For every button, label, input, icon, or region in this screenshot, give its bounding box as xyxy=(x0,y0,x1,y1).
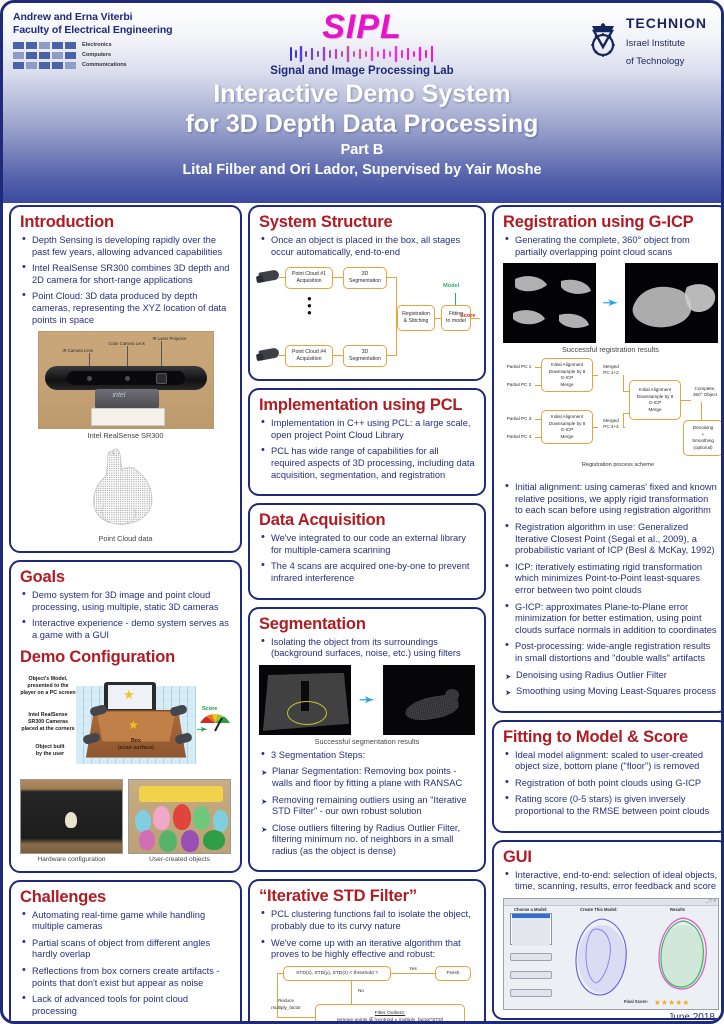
istd-no-label: No xyxy=(354,988,368,994)
scheme-box-denoising: Denoising + Smoothing (optional) xyxy=(683,420,723,456)
system-structure-bullets: Once an object is placed in the box, all… xyxy=(259,235,475,258)
demo-label-cams-line1: Intel RealSense xyxy=(20,712,76,719)
intel-brand-logo: intel xyxy=(113,392,126,399)
gui-center-title: Create This Model: xyxy=(580,907,617,912)
challenges-heading: Challenges xyxy=(20,888,231,907)
poster-date: June 2018 xyxy=(668,1012,715,1023)
fitting-heading: Fitting to Model & Score xyxy=(503,728,718,747)
flow-pc1-line2: Acquisition xyxy=(286,278,332,285)
realsense-camera-photo: IR Camera Lens Color Camera Lens IR Lase… xyxy=(38,331,214,429)
scheme-final-line3: G-ICP xyxy=(630,400,680,407)
registration-bullets-2: Initial alignment: using cameras' fixed … xyxy=(503,482,718,698)
poster-root: Andrew and Erna Viterbi Faculty of Elect… xyxy=(0,0,724,1024)
scheme-stage34-line4: Merge xyxy=(542,434,592,441)
list-item: Post-processing: wide-angle registration… xyxy=(503,641,718,664)
gui-results-title: Results xyxy=(670,907,685,912)
flow-label-score: Score xyxy=(460,313,476,319)
scheme-box-stage-34: Initial Alignment Downsample by 8 G-ICP … xyxy=(541,410,593,444)
demo-config-heading: Demo Configuration xyxy=(20,648,231,667)
scheme-box-stage-12: Initial Alignment Downsample by 8 G-ICP … xyxy=(541,358,593,392)
data-acquisition-heading: Data Acquisition xyxy=(259,511,475,530)
gui-titlebar xyxy=(504,899,718,906)
gui-screenshot: Choose a Model: Create This Model: Resul… xyxy=(503,898,719,1010)
scheme-box-stage-final: Initial Alignment Downsample by 8 G-ICP … xyxy=(629,380,681,420)
istd-filter-title: Filter Outliers: xyxy=(316,1010,464,1017)
scheme-stage12-line3: G-ICP xyxy=(542,375,592,382)
realsense-caption: Intel RealSense SR300 xyxy=(20,431,231,440)
demo-label-cams-line2: SR300 Cameras xyxy=(20,719,76,726)
demo-label-box-line1: Box xyxy=(108,738,164,745)
list-item: Planar Segmentation: Removing box points… xyxy=(259,766,475,789)
segmentation-steps: 3 Segmentation Steps: Planar Segmentatio… xyxy=(259,750,475,858)
iterative-std-bullets: PCL clustering functions fail to isolate… xyxy=(259,909,475,960)
flow-seg4-line1: 3D xyxy=(344,349,386,356)
list-item: Intel RealSense SR300 combines 3D depth … xyxy=(20,263,231,286)
column-left: Introduction Depth Sensing is developing… xyxy=(9,205,242,1017)
column-middle: System Structure Once an object is place… xyxy=(248,205,486,1017)
hardware-photo-right-caption: User-created objects xyxy=(128,856,231,863)
goals-heading: Goals xyxy=(20,568,231,587)
iterative-std-scheme: STD(x), STD(y), STD(z) < threshold ? Fin… xyxy=(259,966,475,1024)
istd-condition-text: STD(x), STD(y), STD(z) < threshold ? xyxy=(284,970,390,977)
demo-label-model-line2: presented to the xyxy=(20,683,76,690)
flow-box-seg4: 3D Segmentation xyxy=(343,345,387,367)
implementation-bullets: Implementation in C++ using PCL: a large… xyxy=(259,418,475,481)
scheme-denoise-line1: Denoising xyxy=(684,425,722,432)
demo-label-model-line1: Object's Model, xyxy=(20,676,76,683)
poster-part-label: Part B xyxy=(3,142,721,158)
flow-pc1-line1: Point Cloud #1 xyxy=(286,271,332,278)
flow-box-pc4: Point Cloud #4 Acquisition xyxy=(285,345,333,367)
gui-show-results-button[interactable] xyxy=(510,989,552,997)
point-cloud-caption: Point Cloud data xyxy=(20,534,231,543)
poster-title-block: Interactive Demo System for 3D Depth Dat… xyxy=(3,79,721,178)
list-item: Implementation in C++ using PCL: a large… xyxy=(259,418,475,441)
scheme-final-line4: Merge xyxy=(630,407,680,414)
list-item: Partial scans of object from different a… xyxy=(20,938,231,961)
gui-results-pointcloud xyxy=(650,915,716,995)
list-item: We've integrated to our code an external… xyxy=(259,533,475,556)
istd-reduce-label-2: multiply_factor xyxy=(259,1005,313,1011)
segmentation-heading: Segmentation xyxy=(259,615,475,634)
panel-gui: GUI Interactive, end-to-end: selection o… xyxy=(492,840,724,1020)
hardware-photo-left: Hardware configuration xyxy=(20,779,123,863)
technion-sub-1: Israel Institute xyxy=(626,38,685,49)
flow-seg1-line1: 3D xyxy=(344,271,386,278)
demo-label-score: Score xyxy=(202,706,217,712)
poster-body: Introduction Depth Sensing is developing… xyxy=(9,205,715,1017)
list-item: The 4 scans are acquired one-by-one to p… xyxy=(259,561,475,584)
scheme-stage12-line2: Downsample by 8 xyxy=(542,369,592,376)
segmentation-before-image xyxy=(259,665,351,735)
poster-title-line-2: for 3D Depth Data Processing xyxy=(3,109,721,139)
registration-before-image xyxy=(503,263,596,343)
flow-seg4-line2: Segmentation xyxy=(344,356,386,363)
gui-heading: GUI xyxy=(503,848,718,867)
list-item: PCL clustering functions fail to isolate… xyxy=(259,909,475,932)
scheme-label-merged12-l2: PC 1+2 xyxy=(597,370,625,376)
poster-authors: Lital Filber and Ori Lador, Supervised b… xyxy=(3,162,721,178)
scheme-label-pc3: Partial PC 3 xyxy=(503,416,535,422)
registration-bullets: Generating the complete, 360° object fro… xyxy=(503,235,718,258)
scheme-label-complete-l2: 360° Object xyxy=(683,392,724,398)
arrow-right-icon: ➛ xyxy=(602,293,619,313)
panel-system-structure: System Structure Once an object is place… xyxy=(248,205,486,381)
flow-box-seg1: 3D Segmentation xyxy=(343,267,387,289)
panel-introduction: Introduction Depth Sensing is developing… xyxy=(9,205,242,553)
gui-star-rating: ★★★★★ xyxy=(654,998,690,1007)
list-item: Reflections from box corners create arti… xyxy=(20,966,231,989)
point-cloud-bunny-figure xyxy=(76,446,176,532)
registration-after-image xyxy=(625,263,718,343)
list-item: Generating the complete, 360° object fro… xyxy=(503,235,718,258)
gui-model-listbox[interactable] xyxy=(510,913,552,945)
segmentation-bullets: Isolating the object from its surroundin… xyxy=(259,637,475,660)
registration-process-scheme: Partial PC 1 Partial PC 2 Partial PC 3 P… xyxy=(503,358,724,480)
istd-filter-box: Filter Outliers: remove points ∉ [centro… xyxy=(315,1004,465,1024)
registration-heading: Registration using G-ICP xyxy=(503,213,718,232)
gui-bullets: Interactive, end-to-end: selection of id… xyxy=(503,870,718,893)
list-item: Once an object is placed in the box, all… xyxy=(259,235,475,258)
flow-pc4-line1: Point Cloud #4 xyxy=(286,349,332,356)
list-item: Registration algorithm in use: Generaliz… xyxy=(503,522,718,557)
list-item: Automating real-time game while handling… xyxy=(20,910,231,933)
gui-set-model-button[interactable] xyxy=(510,953,552,961)
scheme-stage34-line3: G-ICP xyxy=(542,427,592,434)
technion-emblem-icon xyxy=(586,21,620,64)
list-item: Rating score (0-5 stars) is given invers… xyxy=(503,794,718,817)
list-item: Interactive, end-to-end: selection of id… xyxy=(503,870,718,893)
flow-label-model: Model xyxy=(443,283,459,289)
list-item: Smoothing using Moving Least-Squares pro… xyxy=(503,686,718,698)
system-structure-heading: System Structure xyxy=(259,213,475,232)
panel-goals-and-demo: Goals Demo system for 3D image and point… xyxy=(9,560,242,872)
istd-reduce-label-1: Reduce xyxy=(259,998,313,1004)
registration-figures: ➛ xyxy=(503,263,718,343)
panel-challenges: Challenges Automating real-time game whi… xyxy=(9,880,242,1024)
scheme-denoise-line4: (optional) xyxy=(684,445,722,452)
arrow-right-icon: ➛ xyxy=(359,690,376,710)
flow-fit-line2: to model xyxy=(442,318,470,325)
segmentation-after-image xyxy=(383,665,475,735)
registration-caption: Successful registration results xyxy=(503,345,718,354)
list-item: We've come up with an iterative algorith… xyxy=(259,938,475,961)
gui-model-list-title: Choose a Model: xyxy=(514,907,548,912)
istd-yes-label: Yes xyxy=(401,966,425,972)
flow-pc4-line2: Acquisition xyxy=(286,356,332,363)
scheme-label-pc1: Partial PC 1 xyxy=(503,364,535,370)
introduction-heading: Introduction xyxy=(20,213,231,232)
poster-header: Andrew and Erna Viterbi Faculty of Elect… xyxy=(3,3,721,203)
demo-label-box-line2: (scan surface) xyxy=(108,745,164,752)
scheme-stage12-line4: Merge xyxy=(542,382,592,389)
registration-scheme-caption: Registration process scheme xyxy=(543,462,693,468)
list-item: Denoising using Radius Outlier Filter xyxy=(503,670,718,682)
panel-registration: Registration using G-ICP Generating the … xyxy=(492,205,724,713)
list-item: Isolating the object from its surroundin… xyxy=(259,637,475,660)
panel-iterative-std-filter: “Iterative STD Filter” PCL clustering fu… xyxy=(248,879,486,1024)
flow-seg1-line2: Segmentation xyxy=(344,278,386,285)
hardware-photos: Hardware configuration xyxy=(20,779,231,863)
gui-score-label: Final Score: xyxy=(624,999,648,1004)
scheme-label-pc2: Partial PC 2 xyxy=(503,382,535,388)
scheme-stage34-line1: Initial Alignment xyxy=(542,414,592,421)
fitting-bullets: Ideal model alignment: scaled to user-cr… xyxy=(503,750,718,818)
list-item: Depth Sensing is developing rapidly over… xyxy=(20,235,231,258)
list-item: Close outliers filtering by Radius Outli… xyxy=(259,823,475,858)
scheme-denoise-line2: + xyxy=(684,432,722,439)
technion-sub-2: of Technology xyxy=(626,56,684,67)
hardware-photo-right: User-created objects xyxy=(128,779,231,863)
list-item: Initial alignment: using cameras' fixed … xyxy=(503,482,718,517)
list-item: Ideal model alignment: scaled to user-cr… xyxy=(503,750,718,773)
demo-label-model-line3: player on a PC screen xyxy=(20,690,76,697)
list-item: PCL has wide range of capabilities for a… xyxy=(259,446,475,481)
scheme-final-line2: Downsample by 8 xyxy=(630,394,680,401)
panel-data-acquisition: Data Acquisition We've integrated to our… xyxy=(248,503,486,599)
flow-box-pc1: Point Cloud #1 Acquisition xyxy=(285,267,333,289)
list-item: G-ICP: approximates Plane-to-Plane error… xyxy=(503,602,718,637)
list-item: ICP: iteratively estimating rigid transf… xyxy=(503,562,718,597)
poster-title-line-1: Interactive Demo System xyxy=(3,79,721,109)
demo-label-object-line1: Object built xyxy=(24,744,76,751)
istd-finish-text: Finish xyxy=(436,970,470,977)
panel-fitting-to-model: Fitting to Model & Score Ideal model ali… xyxy=(492,720,724,833)
technion-name: TECHNION xyxy=(626,15,707,31)
list-item: Removing remaining outliers using an "It… xyxy=(259,795,475,818)
scheme-denoise-line3: Smoothing xyxy=(684,438,722,445)
column-right: Registration using G-ICP Generating the … xyxy=(492,205,724,1017)
demo-configuration-diagram: Object's Model, presented to the player … xyxy=(20,670,233,774)
scheme-label-merged34-l2: PC 3+4 xyxy=(597,424,625,430)
list-item: Interactive experience - demo system ser… xyxy=(20,618,231,641)
panel-implementation: Implementation using PCL Implementation … xyxy=(248,388,486,496)
segmentation-caption: Successful segmentation results xyxy=(259,737,475,746)
panel-segmentation: Segmentation Isolating the object from i… xyxy=(248,607,486,873)
data-acquisition-bullets: We've integrated to our code an external… xyxy=(259,533,475,584)
introduction-bullets: Depth Sensing is developing rapidly over… xyxy=(20,235,231,326)
iterative-std-heading: “Iterative STD Filter” xyxy=(259,887,475,906)
istd-finish-box: Finish xyxy=(435,966,471,981)
demo-label-cams-line3: placed at the corners xyxy=(20,726,76,733)
system-structure-flowchart: Point Cloud #1 Acquisition 3D Segmentati… xyxy=(259,263,479,371)
scheme-final-line1: Initial Alignment xyxy=(630,387,680,394)
list-item: Registration of both point clouds using … xyxy=(503,778,718,790)
scheme-label-pc4: Partial PC 4 xyxy=(503,434,535,440)
demo-label-object-line2: by the user xyxy=(24,751,76,758)
implementation-heading: Implementation using PCL xyxy=(259,396,475,415)
challenges-bullets: Automating real-time game while handling… xyxy=(20,910,231,1018)
gui-model-pointcloud xyxy=(566,915,638,1001)
scheme-stage12-line1: Initial Alignment xyxy=(542,362,592,369)
scheme-stage34-line2: Downsample by 8 xyxy=(542,421,592,428)
list-item: Point Cloud: 3D data produced by depth c… xyxy=(20,291,231,326)
istd-condition-box: STD(x), STD(y), STD(z) < threshold ? xyxy=(283,966,391,981)
camera-label-ir-projector: IR Laser Projector xyxy=(153,336,187,341)
gui-start-scanning-button[interactable] xyxy=(510,971,552,979)
technion-logo: TECHNION Israel Institute of Technology xyxy=(586,15,707,69)
istd-filter-body: remove points ∉ [centroid ± multiply_fac… xyxy=(316,1017,464,1024)
goals-bullets: Demo system for 3D image and point cloud… xyxy=(20,590,231,641)
flow-reg-line1: Registration xyxy=(398,311,434,318)
list-item: 3 Segmentation Steps: xyxy=(259,750,475,762)
hardware-photo-left-caption: Hardware configuration xyxy=(20,856,123,863)
flow-box-registration: Registration & Stitching xyxy=(397,305,435,331)
segmentation-figures: ➛ xyxy=(259,665,475,735)
list-item: Demo system for 3D image and point cloud… xyxy=(20,590,231,613)
flow-reg-line2: & Stitching xyxy=(398,318,434,325)
list-item: Lack of advanced tools for point cloud p… xyxy=(20,994,231,1017)
